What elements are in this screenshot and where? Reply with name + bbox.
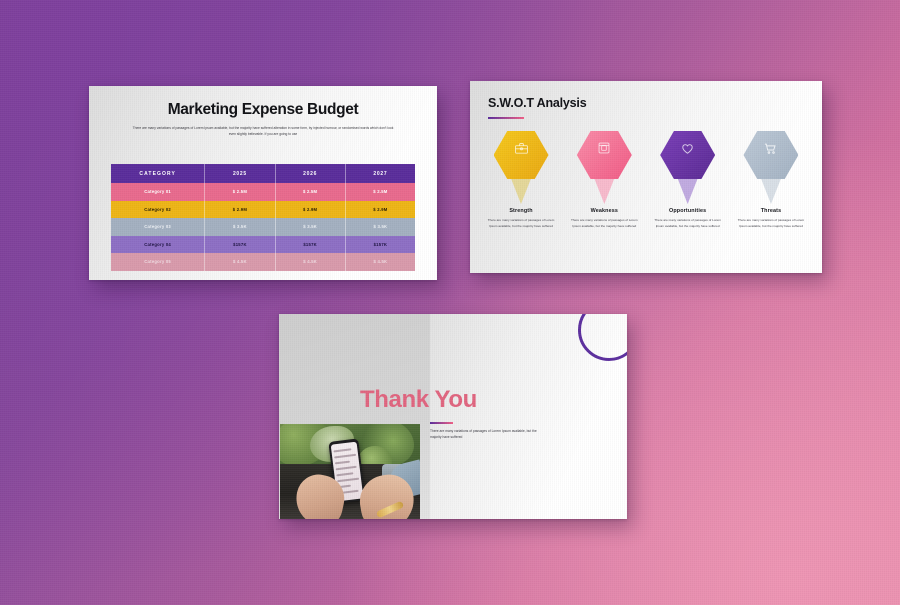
cell-2025: $ 4.5K [205,253,275,271]
swot-description: There are many variations of passages of… [736,218,806,229]
cell-category: Category 03 [111,218,205,236]
swot-badge-opportunities [660,131,715,204]
slide-marketing-expense-budget[interactable]: Marketing Expense Budget There are many … [89,86,437,280]
swot-badge-threats [743,131,798,204]
cell-2027: $ 2.9M [345,201,415,219]
swot-item-strength[interactable]: Strength There are many variations of pa… [482,131,560,229]
cell-2026: $ 2.5M [275,183,345,201]
cell-2027: $ 2.5M [345,183,415,201]
budget-table: CATEGORY 2025 2026 2027 Category 01 $ 2.… [111,164,415,271]
table-body: Category 01 $ 2.5M $ 2.5M $ 2.5M Categor… [111,183,415,271]
cell-2025: $157K [205,236,275,254]
cart-icon [743,141,798,161]
cell-2026: $ 2.9M [275,201,345,219]
slide-thank-you[interactable]: Thank You There are many variations of p… [279,314,627,519]
cell-2025: $ 2.9M [205,201,275,219]
swot-label: Weakness [591,208,618,214]
swot-badge-weakness [577,131,632,204]
page-title: Thank You [360,386,477,414]
swot-label: Opportunities [669,208,706,214]
swot-description: There are many variations of passages of… [486,218,556,229]
heart-icon [660,141,715,161]
cell-2027: $ 4.5K [345,253,415,271]
cell-2026: $ 4.5K [275,253,345,271]
box-icon [577,141,632,160]
cell-2027: $ 3.5K [345,218,415,236]
cell-2026: $157K [275,236,345,254]
cell-2026: $ 3.5K [275,218,345,236]
briefcase-icon [494,141,549,161]
swot-description: There are many variations of passages of… [569,218,639,229]
table-row[interactable]: Category 02 $ 2.9M $ 2.9M $ 2.9M [111,201,415,219]
cell-category: Category 02 [111,201,205,219]
budget-subtitle: There are many variations of passages of… [129,126,397,138]
slide-swot-analysis[interactable]: S.W.O.T Analysis Strength [470,81,822,273]
column-header-category: CATEGORY [111,164,205,183]
table-header-row: CATEGORY 2025 2026 2027 [111,164,415,183]
swot-item-opportunities[interactable]: Opportunities There are many variations … [649,131,727,229]
swot-item-weakness[interactable]: Weakness There are many variations of pa… [565,131,643,229]
swot-description: There are many variations of passages of… [653,218,723,229]
column-header-2025: 2025 [205,164,275,183]
table-row[interactable]: Category 05 $ 4.5K $ 4.5K $ 4.5K [111,253,415,271]
swot-badge-strength [494,131,549,204]
page-title: Marketing Expense Budget [89,101,437,119]
table-row[interactable]: Category 03 $ 3.5K $ 3.5K $ 3.5K [111,218,415,236]
thank-you-description: There are many variations of passages of… [430,428,542,441]
cell-2027: $157K [345,236,415,254]
table-row[interactable]: Category 01 $ 2.5M $ 2.5M $ 2.5M [111,183,415,201]
column-header-2027: 2027 [345,164,415,183]
cell-category: Category 05 [111,253,205,271]
cell-2025: $ 2.5M [205,183,275,201]
cell-2025: $ 3.5K [205,218,275,236]
swot-item-threats[interactable]: Threats There are many variations of pas… [732,131,810,229]
presentation-canvas: Marketing Expense Budget There are many … [0,0,900,605]
table-row[interactable]: Category 04 $157K $157K $157K [111,236,415,254]
cell-category: Category 04 [111,236,205,254]
swot-label: Threats [761,208,782,214]
swot-items-row: Strength There are many variations of pa… [482,131,810,229]
hands-holding-phone-photo [280,424,420,519]
title-underline [430,422,453,424]
table-header: CATEGORY 2025 2026 2027 [111,164,415,183]
title-underline [488,117,524,119]
cell-category: Category 01 [111,183,205,201]
page-title: S.W.O.T Analysis [488,96,586,110]
column-header-2026: 2026 [275,164,345,183]
swot-label: Strength [509,208,532,214]
circle-outline-decoration [578,314,627,361]
